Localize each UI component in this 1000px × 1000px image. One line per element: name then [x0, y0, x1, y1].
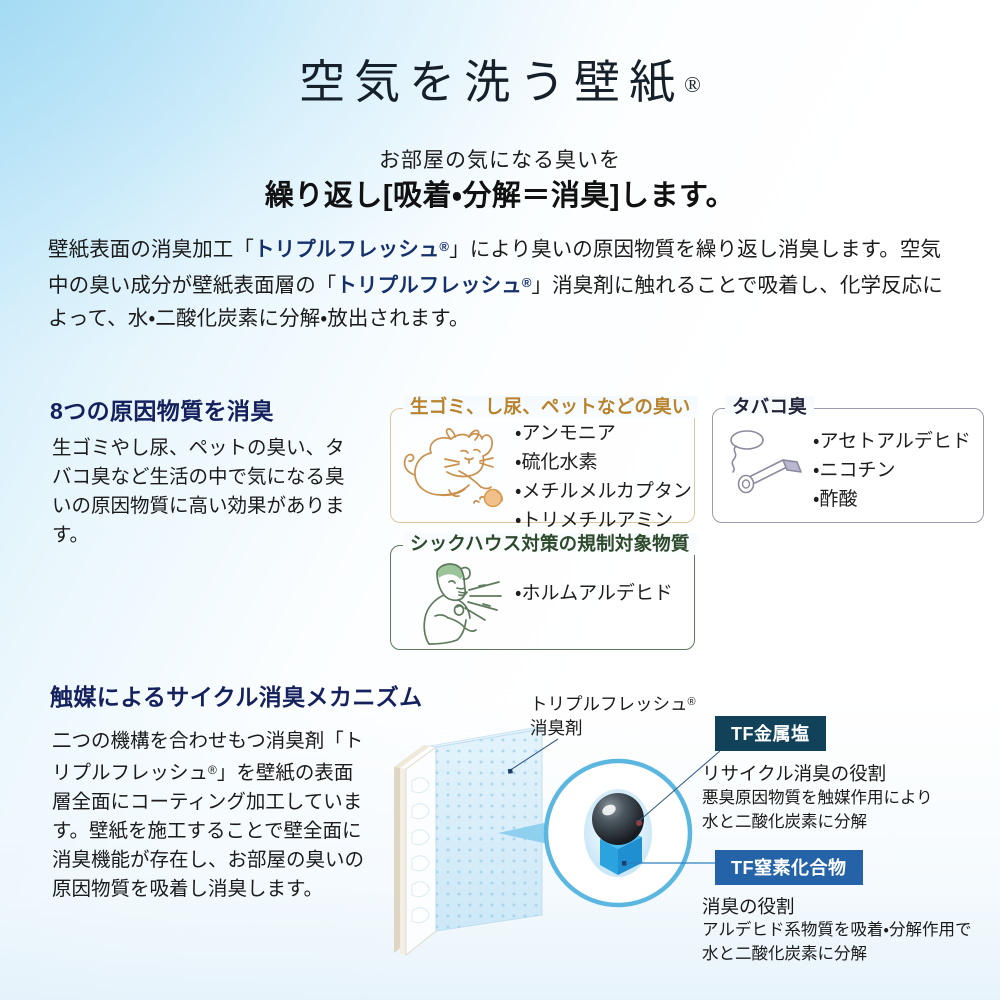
list-item: ・ホルムアルデヒド	[515, 579, 673, 608]
callout-nitrogen-detail: アルデヒド系物質を吸着・分解作用で 水と二酸化炭素に分解	[702, 918, 971, 966]
brand-registered-1: ®	[439, 239, 449, 254]
odor-box-household-title: 生ゴミ、し尿、ペットなどの臭い	[403, 396, 698, 418]
odor-box-sickhouse-title: シックハウス対策の規制対象物質	[403, 533, 697, 555]
mechanism-text-1: 二つの機構を合わせもつ消臭剤「	[52, 730, 344, 752]
badge-tf-metal-salt: TF金属塩	[715, 716, 826, 751]
infographic-page: 空気を洗う壁紙® お部屋の気になる臭いを 繰り返し[吸着・分解＝消臭]します。 …	[0, 0, 1000, 1000]
list-item: ・酢酸	[813, 485, 971, 514]
page-title-text: 空気を洗う壁紙	[299, 57, 684, 108]
callout-nitrogen-role: 消臭の役割	[702, 893, 795, 919]
callout-metal-detail-line2: 水と二酸化炭素に分解	[702, 810, 933, 834]
wallpaper-agent-label-line2: 消臭剤	[530, 716, 696, 740]
lead-text-1: 壁紙表面の消臭加工「	[48, 238, 254, 261]
wallpaper-cross-section-illustration	[390, 715, 720, 975]
odor-box-household: 生ゴミ、し尿、ペットなどの臭い	[390, 408, 695, 523]
section-body-mechanism: 二つの機構を合わせもつ消臭剤「トリプルフレッシュ®」を壁紙の表面層全面にコーティ…	[52, 727, 372, 904]
mechanism-brand-registered: ®	[208, 763, 217, 777]
cigarette-icon	[721, 429, 807, 504]
odor-box-sickhouse: シックハウス対策の規制対象物質	[390, 545, 695, 650]
list-item: ・アンモニア	[515, 419, 692, 448]
page-title: 空気を洗う壁紙®	[0, 46, 1000, 112]
list-item: ・硫化水素	[515, 448, 692, 477]
subtitle-line-2: 繰り返し[吸着・分解＝消臭]します。	[0, 172, 1000, 214]
wallpaper-agent-registered: ®	[688, 696, 696, 708]
section-body-odor: 生ゴミやし尿、ペットの臭い、タバコ臭など生活の中で気になる臭いの原因物質に高い効…	[52, 434, 352, 550]
section-heading-odor: 8つの原因物質を消臭	[50, 392, 274, 426]
odor-box-tobacco-items: ・アセトアルデヒド ・ニコチン ・酢酸	[813, 427, 971, 514]
list-item: ・トリメチルアミン	[515, 506, 692, 535]
odor-box-tobacco: タバコ臭 ・アセトアルデヒド ・ニコチン ・酢酸	[712, 408, 984, 523]
section-heading-mechanism: 触媒によるサイクル消臭メカニズム	[50, 678, 423, 712]
subtitle-line-1: お部屋の気になる臭いを	[0, 144, 1000, 174]
list-item: ・メチルメルカプタン	[515, 477, 692, 506]
callout-metal-detail-line1: 悪臭原因物質を触媒作用により	[702, 786, 933, 810]
brand-name-1: トリプルフレッシュ®	[254, 238, 449, 261]
callout-metal-role: リサイクル消臭の役割	[702, 760, 886, 786]
wallpaper-agent-label: トリプルフレッシュ® 消臭剤	[530, 690, 696, 740]
callout-nitrogen-detail-line2: 水と二酸化炭素に分解	[702, 942, 971, 966]
badge-tf-nitrogen-compound: TF窒素化合物	[715, 850, 863, 885]
wallpaper-agent-label-line1: トリプルフレッシュ®	[530, 690, 696, 716]
odor-box-sickhouse-items: ・ホルムアルデヒド	[515, 579, 673, 608]
callout-nitrogen-detail-line1: アルデヒド系物質を吸着・分解作用で	[702, 918, 971, 942]
callout-metal-detail: 悪臭原因物質を触媒作用により 水と二酸化炭素に分解	[702, 786, 933, 834]
registered-mark: ®	[684, 72, 701, 97]
mechanism-diagram: トリプルフレッシュ® 消臭剤 TF金属塩 リサイクル消臭の役割 悪臭原因物質を触…	[395, 690, 1000, 975]
brand-name-2: トリプルフレッシュ®	[336, 274, 531, 297]
lead-paragraph: 壁紙表面の消臭加工「トリプルフレッシュ®」により臭いの原因物質を繰り返し消臭しま…	[48, 230, 958, 335]
cat-icon	[397, 427, 509, 514]
brand-registered-2: ®	[522, 275, 532, 290]
sneezing-person-icon	[413, 558, 505, 651]
list-item: ・ニコチン	[813, 456, 971, 485]
odor-box-household-items: ・アンモニア ・硫化水素 ・メチルメルカプタン ・トリメチルアミン	[515, 419, 692, 535]
list-item: ・アセトアルデヒド	[813, 427, 971, 456]
odor-box-tobacco-title: タバコ臭	[725, 396, 814, 418]
